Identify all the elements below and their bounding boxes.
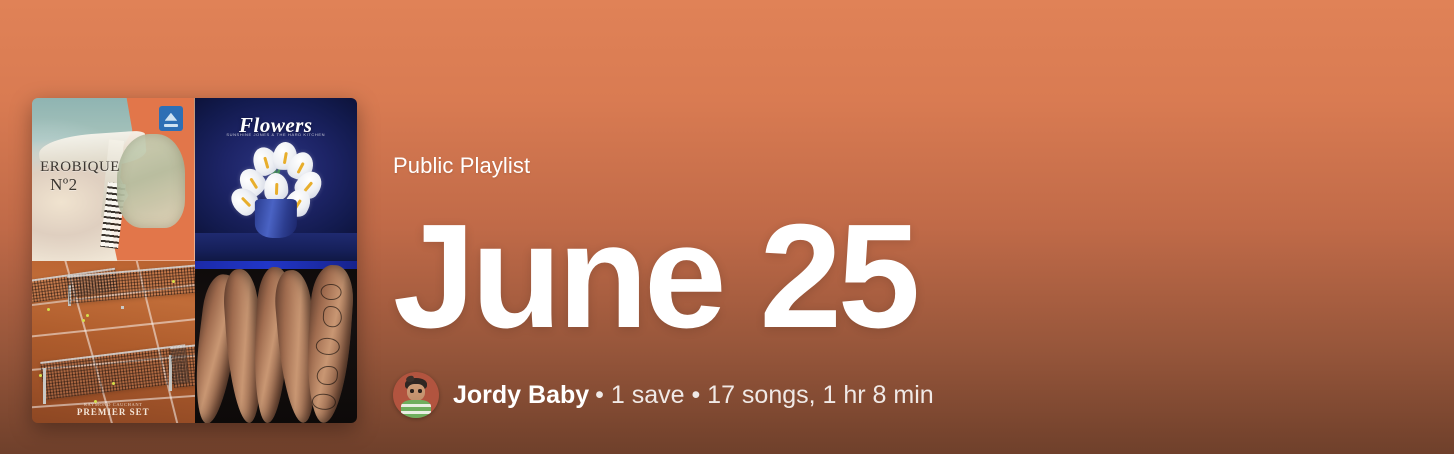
erobique-subtitle-text: Nº2 (50, 176, 120, 194)
court-line (32, 314, 195, 338)
tennis-ball (47, 308, 50, 311)
owner-name[interactable]: Jordy Baby (453, 383, 589, 408)
tattoo-mark (316, 365, 339, 386)
album-cover-erobique: EROBIQUE Nº2 (32, 98, 195, 261)
tennis-net (170, 343, 195, 388)
playlist-info: Public Playlist June 25 Jordy Baby • 1 s… (393, 155, 1422, 424)
tennis-ball (39, 374, 42, 377)
avatar-eye-left (410, 389, 414, 392)
owner-avatar[interactable] (393, 372, 439, 418)
tattoo-mark (322, 306, 342, 328)
avatar-striped-shirt (401, 400, 431, 418)
tattoo-mark (312, 394, 336, 412)
erobique-title-text: EROBIQUE (40, 159, 120, 175)
premier-set-brand: RAYMOND CAUCHANT (32, 402, 195, 407)
tennis-ball (86, 314, 89, 317)
erobique-title: EROBIQUE Nº2 (40, 160, 120, 194)
erobique-label-badge-icon (159, 106, 183, 130)
playlist-stats: • 1 save • 17 songs, 1 hr 8 min (595, 383, 934, 408)
playlist-title[interactable]: June 25 (393, 207, 1422, 346)
flowers-vase (255, 199, 297, 238)
album-cover-legs-photo (195, 261, 358, 424)
playlist-meta-row: Jordy Baby • 1 save • 17 songs, 1 hr 8 m… (393, 372, 1422, 418)
legs-limb (303, 264, 356, 423)
tennis-ball (82, 319, 85, 322)
premier-set-title: PREMIER SET (77, 407, 150, 417)
playlist-header: EROBIQUE Nº2 Flowers SUNSHINE JONES & TH… (0, 0, 1454, 454)
net-post (121, 306, 124, 309)
tennis-net (40, 344, 190, 399)
album-cover-premier-set: RAYMOND CAUCHANT PREMIER SET (32, 261, 195, 424)
playlist-cover-art[interactable]: EROBIQUE Nº2 Flowers SUNSHINE JONES & TH… (32, 98, 357, 423)
flowers-subtitle: SUNSHINE JONES & THE HARD KITCHEN (195, 132, 358, 137)
tennis-ball (172, 280, 175, 283)
tattoo-mark (321, 284, 343, 302)
tennis-net (67, 264, 195, 304)
playlist-type-label: Public Playlist (393, 155, 1422, 177)
album-cover-flowers: Flowers SUNSHINE JONES & THE HARD KITCHE… (195, 98, 358, 261)
erobique-figure (117, 134, 185, 228)
premier-set-caption: RAYMOND CAUCHANT PREMIER SET (32, 402, 195, 417)
tattoo-mark (315, 337, 340, 356)
net-post (43, 368, 46, 404)
